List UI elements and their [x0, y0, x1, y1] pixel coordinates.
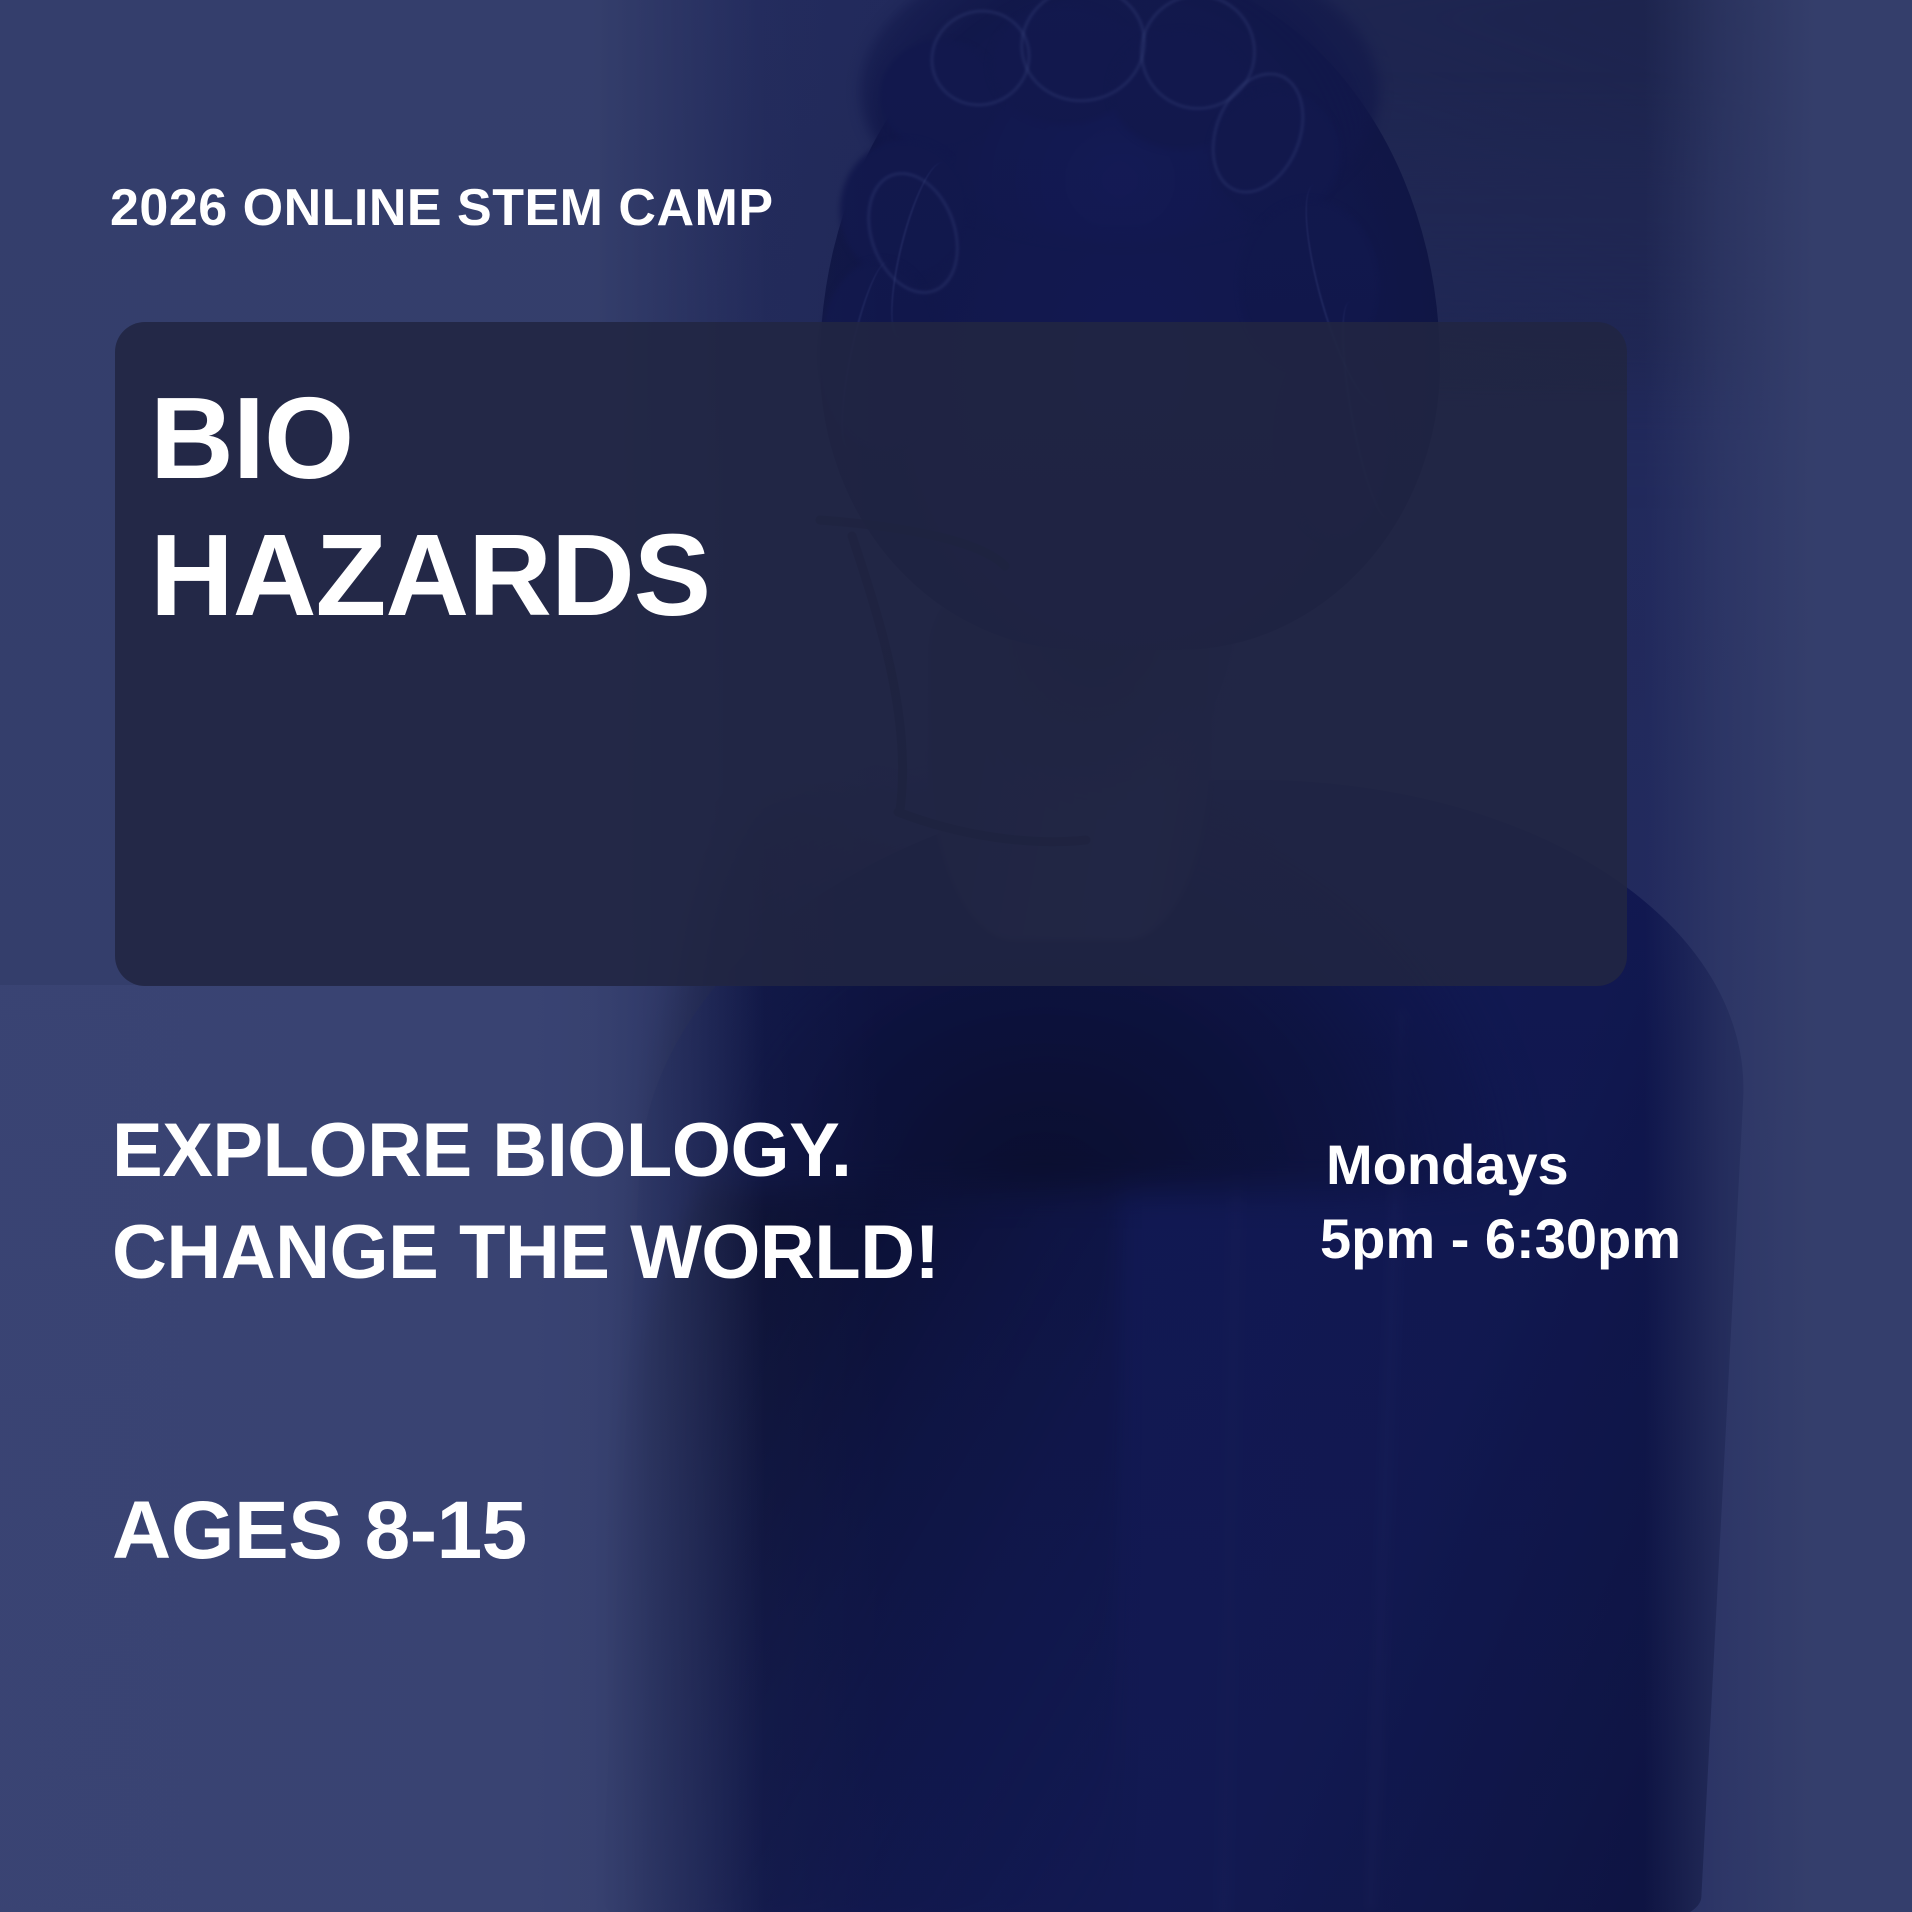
poster-canvas: 2026 ONLINE STEM CAMP BIO HAZARDS EXPLOR… — [0, 0, 1912, 1912]
tagline-line-2: CHANGE THE WORLD! — [112, 1202, 939, 1304]
schedule-days: Mondays — [1320, 1128, 1681, 1202]
schedule-time: 5pm - 6:30pm — [1320, 1202, 1681, 1276]
tagline: EXPLORE BIOLOGY. CHANGE THE WORLD! — [112, 1100, 939, 1304]
page-title: BIO HAZARDS — [150, 370, 710, 644]
tagline-line-1: EXPLORE BIOLOGY. — [112, 1100, 939, 1202]
ages-text: AGES 8-15 — [112, 1490, 527, 1572]
page-title-line-2: HAZARDS — [150, 507, 710, 644]
camp-kicker-text: 2026 ONLINE STEM CAMP — [110, 182, 774, 234]
page-title-line-1: BIO — [150, 370, 710, 507]
schedule-block: Mondays 5pm - 6:30pm — [1320, 1128, 1681, 1276]
